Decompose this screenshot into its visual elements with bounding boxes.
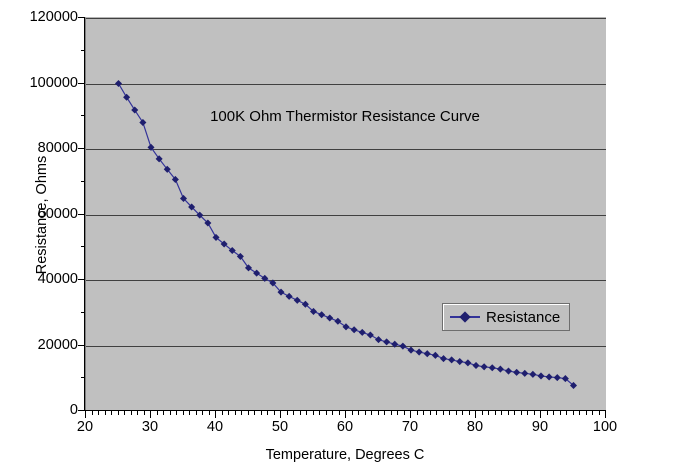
x-axis-minor-tick (98, 411, 99, 415)
x-axis-minor-tick (358, 411, 359, 415)
legend-series-symbol-icon (450, 311, 480, 323)
x-axis-minor-tick (592, 411, 593, 415)
x-axis-minor-tick (261, 411, 262, 415)
data-point-marker (481, 364, 487, 370)
x-axis-minor-tick (527, 411, 528, 415)
data-point-marker (375, 337, 381, 343)
data-point-marker (351, 327, 357, 333)
x-axis-minor-tick (488, 411, 489, 415)
data-point-marker (530, 371, 536, 377)
data-point-marker (400, 343, 406, 349)
x-axis-major-tick (215, 411, 216, 418)
x-axis-minor-tick (319, 411, 320, 415)
x-axis-tick-label: 40 (185, 420, 245, 435)
x-axis-minor-tick (118, 411, 119, 415)
x-axis-minor-tick (202, 411, 203, 415)
y-axis-minor-tick (81, 246, 85, 247)
data-point-marker (546, 374, 552, 380)
x-axis-minor-tick (313, 411, 314, 415)
x-axis-minor-tick (449, 411, 450, 415)
x-axis-minor-tick (254, 411, 255, 415)
data-point-marker (286, 293, 292, 299)
x-axis-minor-tick (462, 411, 463, 415)
x-axis-minor-tick (157, 411, 158, 415)
x-axis-minor-tick (384, 411, 385, 415)
gridlines (86, 19, 606, 347)
x-axis-minor-tick (124, 411, 125, 415)
x-axis-tick-label: 80 (445, 420, 505, 435)
x-axis-tick-label: 90 (510, 420, 570, 435)
y-axis-minor-tick (81, 181, 85, 182)
x-axis-minor-tick (352, 411, 353, 415)
data-point-marker (522, 370, 528, 376)
x-axis-minor-tick (553, 411, 554, 415)
x-axis-minor-tick (228, 411, 229, 415)
y-axis-major-tick (78, 214, 85, 215)
x-axis-major-tick (540, 411, 541, 418)
x-axis-minor-tick (144, 411, 145, 415)
x-axis-major-tick (345, 411, 346, 418)
x-axis-minor-tick (547, 411, 548, 415)
x-axis-minor-tick (397, 411, 398, 415)
legend-diamond-marker-icon (459, 311, 470, 322)
data-point-marker (254, 270, 260, 276)
thermistor-resistance-chart: 020000400006000080000100000120000 203040… (0, 0, 692, 473)
x-axis-minor-tick (443, 411, 444, 415)
x-axis-minor-tick (267, 411, 268, 415)
x-axis-title: Temperature, Degrees C (85, 447, 605, 463)
x-axis-major-tick (410, 411, 411, 418)
x-axis-minor-tick (482, 411, 483, 415)
x-axis-minor-tick (170, 411, 171, 415)
x-axis-minor-tick (521, 411, 522, 415)
x-axis-minor-tick (176, 411, 177, 415)
data-point-marker (294, 297, 300, 303)
x-axis-minor-tick (501, 411, 502, 415)
x-axis-minor-tick (189, 411, 190, 415)
y-axis-minor-tick (81, 377, 85, 378)
data-point-marker (408, 347, 414, 353)
legend-item-label: Resistance (486, 309, 560, 326)
x-axis-minor-tick (423, 411, 424, 415)
y-axis-major-tick (78, 410, 85, 411)
series-line (119, 84, 574, 386)
data-point-marker (384, 339, 390, 345)
x-axis-tick-label: 60 (315, 420, 375, 435)
x-axis-minor-tick (456, 411, 457, 415)
x-axis-minor-tick (430, 411, 431, 415)
x-axis-tick-label: 70 (380, 420, 440, 435)
legend[interactable]: Resistance (442, 303, 570, 331)
plot-svg (86, 18, 606, 411)
x-axis-minor-tick (111, 411, 112, 415)
x-axis-minor-tick (293, 411, 294, 415)
x-axis-tick-label: 50 (250, 420, 310, 435)
x-axis-minor-tick (248, 411, 249, 415)
x-axis-minor-tick (566, 411, 567, 415)
data-point-marker (505, 368, 511, 374)
x-axis-minor-tick (391, 411, 392, 415)
x-axis-minor-tick (241, 411, 242, 415)
y-axis-minor-tick (81, 312, 85, 313)
data-point-marker (416, 349, 422, 355)
data-point-marker (359, 329, 365, 335)
data-point-marker (367, 332, 373, 338)
x-axis-minor-tick (287, 411, 288, 415)
data-point-marker (440, 356, 446, 362)
x-axis-minor-tick (196, 411, 197, 415)
x-axis-minor-tick (560, 411, 561, 415)
data-point-marker (319, 312, 325, 318)
chart-title: 100K Ohm Thermistor Resistance Curve (85, 108, 605, 125)
data-point-marker (424, 351, 430, 357)
x-axis-minor-tick (573, 411, 574, 415)
data-point-marker (554, 375, 560, 381)
y-axis-major-tick (78, 279, 85, 280)
data-point-marker (497, 366, 503, 372)
x-axis-minor-tick (235, 411, 236, 415)
x-axis-minor-tick (508, 411, 509, 415)
x-axis-major-tick (605, 411, 606, 418)
x-axis-minor-tick (586, 411, 587, 415)
x-axis-minor-tick (365, 411, 366, 415)
data-point-marker (115, 80, 121, 86)
y-axis-major-tick (78, 17, 85, 18)
x-axis-minor-tick (306, 411, 307, 415)
x-axis-major-tick (280, 411, 281, 418)
data-point-marker (124, 94, 130, 100)
x-axis-minor-tick (163, 411, 164, 415)
x-axis-minor-tick (339, 411, 340, 415)
y-axis-major-tick (78, 345, 85, 346)
x-axis-tick-label: 30 (120, 420, 180, 435)
data-point-marker (327, 315, 333, 321)
x-axis-minor-tick (417, 411, 418, 415)
x-axis-minor-tick (92, 411, 93, 415)
x-axis-minor-tick (300, 411, 301, 415)
x-axis-minor-tick (332, 411, 333, 415)
x-axis-minor-tick (137, 411, 138, 415)
y-axis-major-tick (78, 83, 85, 84)
x-axis-minor-tick (579, 411, 580, 415)
x-axis-minor-tick (534, 411, 535, 415)
x-axis-major-tick (475, 411, 476, 418)
x-axis-minor-tick (105, 411, 106, 415)
data-point-marker (538, 373, 544, 379)
x-axis-tick-label: 100 (575, 420, 635, 435)
x-axis-minor-tick (495, 411, 496, 415)
x-axis-minor-tick (436, 411, 437, 415)
x-axis-minor-tick (274, 411, 275, 415)
x-axis-tick-label: 20 (55, 420, 115, 435)
y-axis-minor-tick (81, 50, 85, 51)
x-axis-minor-tick (404, 411, 405, 415)
x-axis-minor-tick (131, 411, 132, 415)
plot-area (85, 17, 606, 411)
data-point-marker (489, 365, 495, 371)
x-axis-minor-tick (371, 411, 372, 415)
data-point-marker (457, 358, 463, 364)
x-axis-minor-tick (378, 411, 379, 415)
x-axis-minor-tick (469, 411, 470, 415)
x-axis-minor-tick (326, 411, 327, 415)
x-axis-major-tick (150, 411, 151, 418)
data-point-marker (473, 362, 479, 368)
data-point-marker (465, 360, 471, 366)
data-point-marker (514, 369, 520, 375)
data-point-marker (449, 357, 455, 363)
y-axis-major-tick (78, 148, 85, 149)
x-axis-minor-tick (514, 411, 515, 415)
x-axis-minor-tick (209, 411, 210, 415)
data-point-marker (432, 352, 438, 358)
x-axis-minor-tick (599, 411, 600, 415)
x-axis-minor-tick (183, 411, 184, 415)
series-resistance (115, 80, 576, 388)
x-axis-major-tick (85, 411, 86, 418)
y-axis-title: Resistance, Ohms (34, 95, 50, 335)
x-axis-minor-tick (222, 411, 223, 415)
